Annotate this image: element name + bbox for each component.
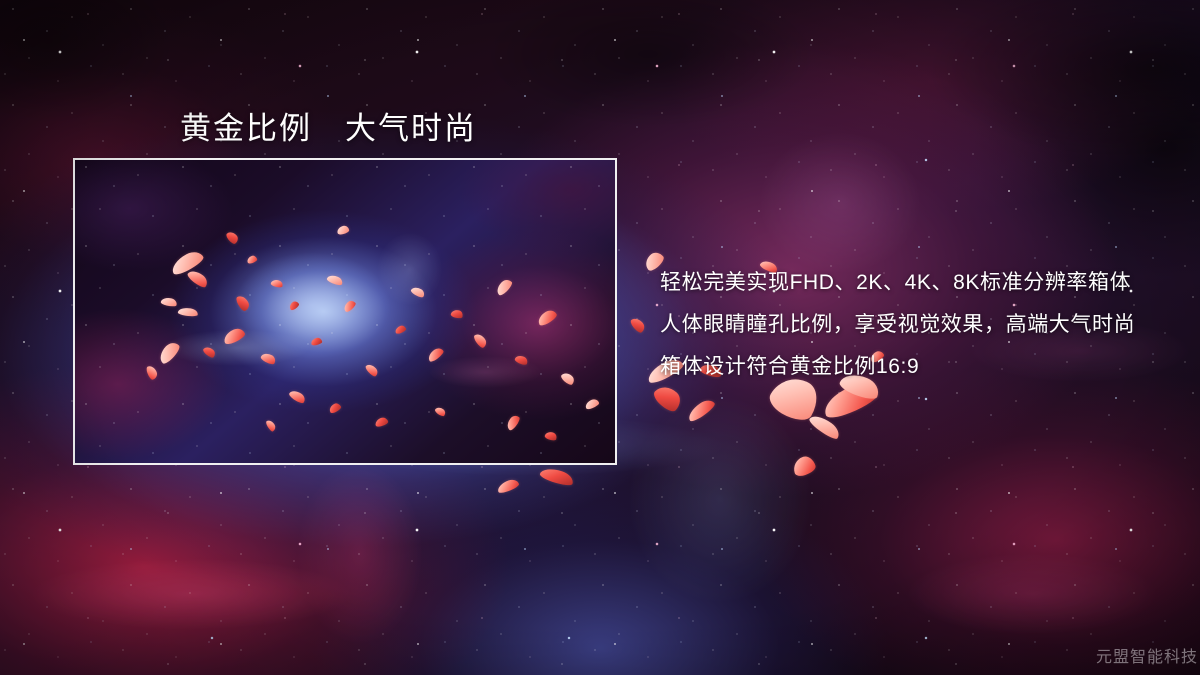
body-line-2: 人体眼睛瞳孔比例，享受视觉效果，高端大气时尚 <box>660 304 1160 346</box>
flower-petal <box>791 454 817 478</box>
flower-petal <box>629 316 647 335</box>
flower-petal <box>496 478 520 495</box>
body-line-3: 箱体设计符合黄金比例16:9 <box>660 346 1160 388</box>
body-line-1: 轻松完美实现FHD、2K、4K、8K标准分辨率箱体 <box>660 262 1160 304</box>
flower-petal <box>807 411 842 442</box>
flower-petal <box>539 465 575 488</box>
panel-starfield <box>75 160 615 463</box>
watermark-label: 元盟智能科技 <box>1096 643 1198 667</box>
page-title: 黄金比例 大气时尚 <box>180 103 477 148</box>
body-text-block: 轻松完美实现FHD、2K、4K、8K标准分辨率箱体 人体眼睛瞳孔比例，享受视觉效… <box>660 262 1160 388</box>
flower-petal <box>685 397 717 424</box>
presentation-slide: 黄金比例 大气时尚 轻松完美实现FHD、2K、4K、8K标准分辨率箱体 人体眼睛… <box>0 0 1200 675</box>
galaxy-photo-panel[interactable] <box>73 158 617 465</box>
